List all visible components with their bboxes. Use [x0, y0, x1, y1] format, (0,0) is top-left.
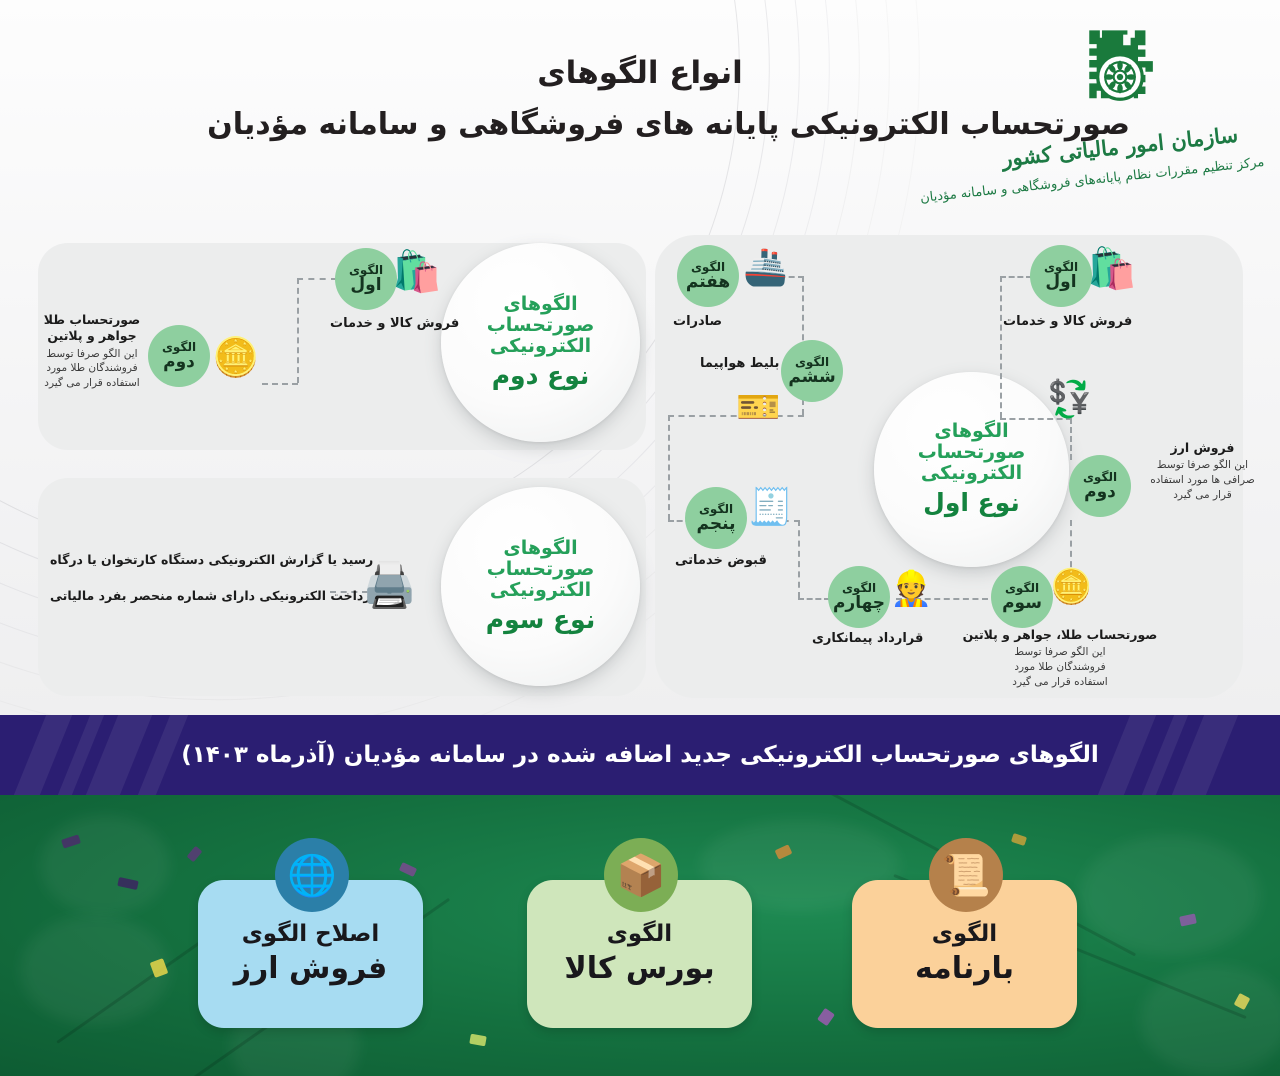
- type1-circle-line1: الگوهای: [934, 421, 1008, 442]
- type1-node5-line1: الگوی: [699, 503, 733, 515]
- page-title-line1: انواع الگوهای: [350, 55, 930, 91]
- type2-node-alghoo-2[interactable]: الگوی دوم: [148, 325, 210, 387]
- header-section: انواع الگوهای صورتحساب الکترونیکی پایانه…: [0, 0, 1280, 715]
- type1-node2-line1: الگوی: [1083, 471, 1117, 483]
- type1-node7-line1: الگوی: [691, 261, 725, 273]
- type1-node3-line1: الگوی: [1005, 582, 1039, 594]
- type1-node5-label: قبوض خدماتی: [675, 553, 767, 568]
- type1-node3-label-sub: این الگو صرفا توسط فروشندگان طلا مورد اس…: [950, 645, 1170, 689]
- type1-connector-v-node2-top: [1070, 418, 1072, 460]
- type1-connector-v-left-low: [668, 415, 670, 520]
- type2-node1-line2: اول: [350, 277, 381, 295]
- type1-circle-line3: الکترونیکی: [921, 463, 1022, 484]
- globe-currency-icon: 🌐: [275, 838, 349, 912]
- type2-circle-line1: الگوهای: [503, 294, 577, 315]
- type1-node1-label: فروش کالا و خدمات: [1003, 314, 1132, 329]
- type2-node2-line2: دوم: [163, 354, 195, 372]
- type2-connector-top: [297, 278, 337, 280]
- card-barnameh-line1: الگوی: [932, 921, 997, 947]
- type2-circle-type: نوع دوم: [492, 361, 590, 391]
- tax-org-logo-icon: [1067, 24, 1173, 134]
- new-templates-section: 🌐 اصلاح الگوی فروش ارز 📦 الگوی بورس کالا…: [0, 795, 1280, 1076]
- gold-bars-icon: 🪙: [212, 338, 259, 376]
- receipt-printer-icon: 🖨️: [362, 564, 417, 608]
- currency-exchange-icon: 💱: [1047, 382, 1092, 418]
- type1-main-circle: الگوهای صورتحساب الکترونیکی نوع اول: [874, 372, 1069, 567]
- card-bours-line1: الگوی: [607, 921, 672, 947]
- type1-node4-label: قرارداد پیمانکاری: [812, 631, 923, 646]
- type2-node1-label: فروش کالا و خدمات: [330, 316, 459, 331]
- contractor-icon: 👷: [890, 572, 932, 606]
- airplane-ticket-icon: 🎫: [736, 390, 781, 426]
- type1-node-alghoo-6[interactable]: الگوی ششم: [781, 340, 843, 402]
- type3-circle-line3: الکترونیکی: [490, 580, 591, 601]
- waybill-doc-icon: 📜: [929, 838, 1003, 912]
- type3-main-circle: الگوهای صورتحساب الکترونیکی نوع سوم: [441, 487, 640, 686]
- type2-node2-label-title: صورتحساب طلا جواهر و پلاتین: [40, 312, 144, 345]
- page-title: انواع الگوهای صورتحساب الکترونیکی پایانه…: [350, 55, 1010, 142]
- type2-node2-line1: الگوی: [162, 341, 196, 353]
- type3-circle-type: نوع سوم: [486, 605, 595, 635]
- infographic-page: انواع الگوهای صورتحساب الکترونیکی پایانه…: [0, 0, 1280, 1076]
- type2-connector-vertical: [297, 278, 299, 383]
- type1-node-alghoo-1[interactable]: الگوی اول: [1030, 245, 1092, 307]
- type1-node1-line2: اول: [1045, 274, 1076, 292]
- type1-node3-line2: سوم: [1002, 595, 1042, 613]
- type3-desc-line2: پرداخت الکترونیکی دارای شماره منحصر بفرد…: [50, 588, 376, 603]
- package-check-icon: 📦: [604, 838, 678, 912]
- type2-connector-bottom: [262, 383, 298, 385]
- utility-bill-icon: 🧾: [748, 490, 793, 526]
- type1-node5-line2: پنجم: [697, 516, 736, 534]
- type1-node-alghoo-5[interactable]: الگوی پنجم: [685, 487, 747, 549]
- type1-circle-type: نوع اول: [923, 488, 1020, 518]
- type3-desc-line1: رسید یا گزارش الکترونیکی دستگاه کارتخوان…: [50, 552, 373, 567]
- type1-node7-line2: هفتم: [686, 274, 730, 292]
- type1-connector-v-right: [1000, 276, 1002, 418]
- organization-logo: سازمان امور مالیاتی کشور مرکز تنظیم مقرر…: [975, 22, 1265, 207]
- type1-node6-line1: الگوی: [795, 356, 829, 368]
- type1-node7-label: صادرات: [673, 314, 722, 329]
- type2-circle-line3: الکترونیکی: [490, 336, 591, 357]
- card-arz-line1: اصلاح الگوی: [242, 921, 380, 947]
- type1-node2-line2: دوم: [1084, 484, 1116, 502]
- type1-node2-label-sub: این الگو صرفا توسط صرافی ها مورد استفاده…: [1140, 458, 1265, 502]
- gold-bars-icon: 🪙: [1050, 570, 1092, 604]
- type3-circle-line1: الگوهای: [503, 538, 577, 559]
- type3-circle-line2: صورتحساب: [487, 559, 595, 580]
- type2-main-circle: الگوهای صورتحساب الکترونیکی نوع دوم: [441, 243, 640, 442]
- type1-connector-h-node4: [798, 598, 830, 600]
- type1-node4-line1: الگوی: [842, 582, 876, 594]
- type1-node-alghoo-2[interactable]: الگوی دوم: [1069, 455, 1131, 517]
- goods-sale-icon: 🛍️: [392, 252, 442, 292]
- export-ship-icon: 🚢: [743, 250, 788, 286]
- type1-node6-label: بلیط هواپیما: [700, 356, 779, 371]
- type1-circle-line2: صورتحساب: [918, 442, 1026, 463]
- type1-node2-label-title: فروش ارز: [1140, 440, 1265, 456]
- type1-node3-label-block: صورتحساب طلا، جواهر و پلاتین این الگو صر…: [950, 627, 1170, 689]
- new-templates-cards: 🌐 اصلاح الگوی فروش ارز 📦 الگوی بورس کالا…: [0, 795, 1280, 1076]
- type1-node-alghoo-4[interactable]: الگوی چهارم: [828, 566, 890, 628]
- type1-connector-h-node1: [1000, 276, 1032, 278]
- type1-node-alghoo-3[interactable]: الگوی سوم: [991, 566, 1053, 628]
- type1-node6-line2: ششم: [788, 369, 835, 387]
- type2-node-alghoo-1[interactable]: الگوی اول: [335, 248, 397, 310]
- type2-node2-label-sub: این الگو صرفا توسط فروشندگان طلا مورد اس…: [40, 347, 144, 391]
- type1-node4-line2: چهارم: [833, 595, 885, 613]
- goods-sale-icon: 🛍️: [1087, 249, 1137, 289]
- announcement-banner-text: الگوهای صورتحساب الکترونیکی جدید اضافه ش…: [0, 715, 1280, 795]
- type1-node-alghoo-7[interactable]: الگوی هفتم: [677, 245, 739, 307]
- announcement-banner: الگوهای صورتحساب الکترونیکی جدید اضافه ش…: [0, 715, 1280, 795]
- type1-connector-v-node4: [798, 520, 800, 598]
- card-bours-line2: بورس کالا: [564, 951, 714, 987]
- type2-circle-line2: صورتحساب: [487, 315, 595, 336]
- type2-node1-line1: الگوی: [349, 264, 383, 276]
- type1-node3-label-title: صورتحساب طلا، جواهر و پلاتین: [950, 627, 1170, 643]
- type2-node2-label-block: صورتحساب طلا جواهر و پلاتین این الگو صرف…: [40, 312, 144, 391]
- card-arz-line2: فروش ارز: [234, 951, 388, 987]
- card-barnameh-line2: بارنامه: [915, 951, 1014, 987]
- type1-node1-line1: الگوی: [1044, 261, 1078, 273]
- type1-node2-label-block: فروش ارز این الگو صرفا توسط صرافی ها مور…: [1140, 440, 1265, 502]
